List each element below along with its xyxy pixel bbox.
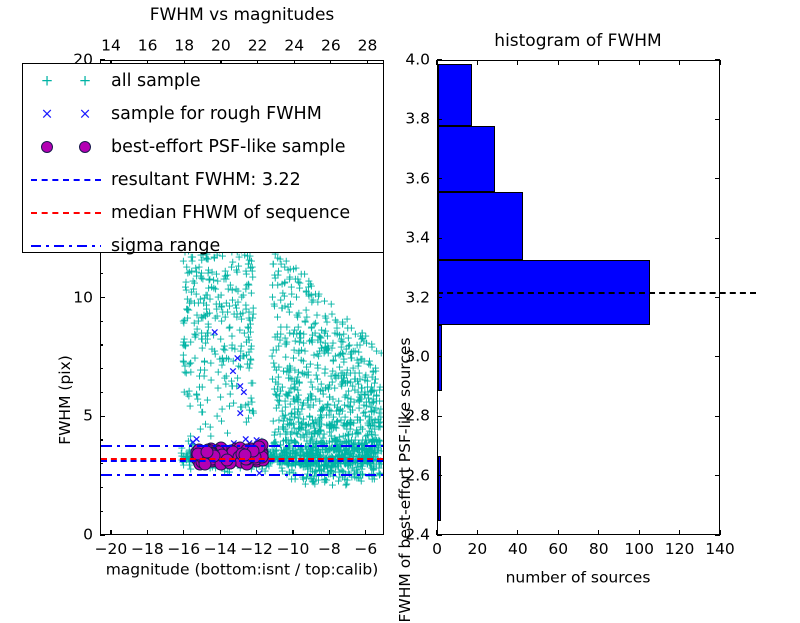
scatter-point-all-sample: + [222, 450, 231, 457]
scatter-point-all-sample: + [279, 368, 288, 375]
scatter-point-all-sample: + [349, 347, 358, 354]
scatter-point-all-sample: + [340, 449, 349, 456]
scatter-point-all-sample: + [201, 312, 210, 319]
scatter-point-all-sample: + [353, 417, 362, 424]
scatter-point-all-sample: + [278, 304, 287, 311]
hist-y-tick-right [715, 59, 720, 60]
scatter-point-all-sample: + [179, 461, 188, 468]
legend-handle [23, 163, 109, 196]
scatter-point-all-sample: + [338, 339, 347, 346]
x-ticklabel-top: 26 [321, 39, 341, 55]
scatter-point-all-sample: + [242, 271, 251, 278]
scatter-point-all-sample: + [326, 467, 335, 474]
scatter-point-all-sample: + [313, 451, 322, 458]
scatter-point-all-sample: + [352, 356, 361, 363]
scatter-point-all-sample: + [302, 306, 311, 313]
scatter-point-psf-like [214, 442, 227, 455]
scatter-point-all-sample: + [272, 391, 281, 398]
scatter-point-all-sample: + [212, 413, 221, 420]
scatter-point-all-sample: + [370, 447, 379, 454]
scatter-point-all-sample: + [179, 357, 188, 364]
scatter-point-all-sample: + [268, 282, 277, 289]
scatter-point-all-sample: + [242, 462, 251, 469]
scatter-point-all-sample: + [340, 450, 349, 457]
scatter-point-all-sample: + [314, 463, 323, 470]
scatter-point-all-sample: + [345, 404, 354, 411]
x-tick-bottom [256, 530, 257, 535]
scatter-point-all-sample: + [356, 462, 365, 469]
scatter-point-all-sample: + [334, 406, 343, 413]
scatter-point-all-sample: + [338, 321, 347, 328]
scatter-point-all-sample: + [308, 450, 317, 457]
scatter-point-all-sample: + [342, 421, 351, 428]
scatter-point-all-sample: + [368, 436, 377, 443]
scatter-point-all-sample: + [245, 450, 254, 457]
scatter-point-all-sample: + [273, 386, 282, 393]
scatter-point-all-sample: + [325, 393, 334, 400]
scatter-point-all-sample: + [247, 465, 256, 472]
scatter-point-all-sample: + [355, 416, 364, 423]
scatter-point-all-sample: + [354, 359, 363, 366]
scatter-point-all-sample: + [324, 344, 333, 351]
scatter-point-all-sample: + [299, 400, 308, 407]
scatter-point-all-sample: + [375, 397, 383, 404]
scatter-point-all-sample: + [328, 461, 337, 468]
scatter-point-all-sample: + [299, 448, 308, 455]
scatter-point-all-sample: + [357, 477, 366, 484]
scatter-point-rough-fwhm: × [243, 447, 252, 454]
scatter-point-all-sample: + [233, 268, 242, 275]
hist-y-tick-right [715, 475, 720, 476]
scatter-point-all-sample: + [371, 368, 380, 375]
scatter-point-all-sample: + [342, 421, 351, 428]
scatter-point-all-sample: + [201, 333, 210, 340]
scatter-point-all-sample: + [212, 301, 221, 308]
scatter-point-all-sample: + [179, 359, 188, 366]
scatter-point-all-sample: + [368, 387, 377, 394]
scatter-point-all-sample: + [329, 425, 338, 432]
scatter-point-all-sample: + [237, 342, 246, 349]
scatter-point-all-sample: + [315, 426, 324, 433]
scatter-point-all-sample: + [284, 266, 293, 273]
scatter-point-all-sample: + [294, 279, 303, 286]
scatter-point-all-sample: + [360, 391, 369, 398]
legend-item: ××sample for rough FWHM [23, 97, 383, 130]
scatter-point-all-sample: + [191, 331, 200, 338]
scatter-point-all-sample: + [372, 348, 381, 355]
scatter-point-all-sample: + [333, 448, 342, 455]
scatter-point-all-sample: + [337, 343, 346, 350]
scatter-point-all-sample: + [195, 384, 204, 391]
scatter-point-all-sample: + [372, 393, 381, 400]
scatter-point-all-sample: + [239, 292, 248, 299]
scatter-point-all-sample: + [305, 403, 314, 410]
scatter-point-all-sample: + [307, 430, 316, 437]
scatter-point-all-sample: + [291, 462, 300, 469]
scatter-point-all-sample: + [345, 419, 354, 426]
scatter-point-all-sample: + [283, 436, 292, 443]
x-tick-bottom [147, 530, 148, 535]
scatter-point-all-sample: + [351, 430, 360, 437]
scatter-point-all-sample: + [340, 438, 349, 445]
figure-canvas: ++++++++++++++++++++++++++++++++++++++++… [0, 0, 800, 600]
scatter-point-all-sample: + [322, 346, 331, 353]
scatter-point-all-sample: + [321, 314, 330, 321]
scatter-point-all-sample: + [358, 330, 367, 337]
scatter-point-all-sample: + [289, 420, 298, 427]
scatter-point-all-sample: + [340, 414, 349, 421]
scatter-point-all-sample: + [260, 447, 269, 454]
scatter-point-all-sample: + [289, 266, 298, 273]
scatter-point-all-sample: + [311, 291, 320, 298]
scatter-point-all-sample: + [249, 407, 258, 414]
scatter-point-all-sample: + [305, 449, 314, 456]
scatter-point-all-sample: + [236, 403, 245, 410]
scatter-point-all-sample: + [308, 339, 317, 346]
scatter-point-all-sample: + [323, 400, 332, 407]
scatter-point-all-sample: + [315, 415, 324, 422]
scatter-point-all-sample: + [355, 375, 364, 382]
scatter-point-all-sample: + [196, 449, 205, 456]
scatter-point-all-sample: + [306, 437, 315, 444]
scatter-point-all-sample: + [365, 418, 374, 425]
scatter-point-all-sample: + [196, 367, 205, 374]
scatter-point-all-sample: + [307, 463, 316, 470]
scatter-point-all-sample: + [346, 370, 355, 377]
scatter-point-all-sample: + [285, 421, 294, 428]
scatter-point-all-sample: + [299, 463, 308, 470]
scatter-point-all-sample: + [182, 370, 191, 377]
scatter-point-all-sample: + [295, 379, 304, 386]
scatter-point-all-sample: + [180, 368, 189, 375]
hist-x-tick-top [679, 60, 680, 65]
scatter-point-all-sample: + [368, 447, 377, 454]
scatter-point-all-sample: + [357, 396, 366, 403]
scatter-point-all-sample: + [370, 476, 379, 483]
scatter-point-all-sample: + [327, 432, 336, 439]
scatter-point-all-sample: + [274, 268, 283, 275]
scatter-point-all-sample: + [352, 466, 361, 473]
scatter-point-all-sample: + [268, 293, 277, 300]
scatter-point-all-sample: + [326, 422, 335, 429]
scatter-point-all-sample: + [341, 450, 350, 457]
scatter-point-all-sample: + [289, 347, 298, 354]
scatter-point-all-sample: + [200, 366, 209, 373]
scatter-point-all-sample: + [285, 416, 294, 423]
scatter-point-all-sample: + [354, 430, 363, 437]
scatter-point-all-sample: + [330, 435, 339, 442]
scatter-point-rough-fwhm: × [247, 449, 256, 456]
legend-dashed-line-icon [31, 212, 101, 214]
scatter-point-all-sample: + [209, 332, 218, 339]
scatter-point-all-sample: + [290, 378, 299, 385]
scatter-point-all-sample: + [246, 357, 255, 364]
scatter-point-all-sample: + [309, 479, 318, 486]
scatter-point-all-sample: + [356, 356, 365, 363]
scatter-point-all-sample: + [312, 450, 321, 457]
scatter-point-all-sample: + [233, 288, 242, 295]
scatter-point-all-sample: + [290, 424, 299, 431]
scatter-point-all-sample: + [367, 465, 376, 472]
hist-x-ticklabel: 20 [468, 542, 488, 558]
scatter-point-all-sample: + [280, 341, 289, 348]
scatter-point-all-sample: + [302, 287, 311, 294]
scatter-point-all-sample: + [212, 270, 221, 277]
scatter-point-all-sample: + [282, 368, 291, 375]
scatter-point-all-sample: + [358, 450, 367, 457]
resultant-fwhm-reference-line [101, 460, 383, 462]
left-plot-legend: ++all sample××sample for rough FWHMbest-… [22, 63, 384, 253]
scatter-point-all-sample: + [357, 355, 366, 362]
scatter-point-all-sample: + [287, 437, 296, 444]
scatter-point-all-sample: + [362, 339, 371, 346]
legend-item: resultant FWHM: 3.22 [23, 163, 383, 196]
histogram-bar [438, 64, 472, 126]
scatter-point-all-sample: + [346, 419, 355, 426]
scatter-point-all-sample: + [368, 421, 377, 428]
scatter-point-all-sample: + [185, 269, 194, 276]
scatter-point-all-sample: + [335, 351, 344, 358]
scatter-point-all-sample: + [306, 361, 315, 368]
scatter-point-rough-fwhm: × [225, 449, 234, 456]
scatter-point-all-sample: + [309, 477, 318, 484]
scatter-point-all-sample: + [353, 414, 362, 421]
sigma-range-reference-line [101, 445, 383, 447]
scatter-point-all-sample: + [236, 363, 245, 370]
scatter-point-all-sample: + [183, 270, 192, 277]
scatter-point-all-sample: + [215, 355, 224, 362]
scatter-point-all-sample: + [206, 376, 215, 383]
scatter-point-all-sample: + [315, 463, 324, 470]
scatter-point-all-sample: + [192, 290, 201, 297]
scatter-point-all-sample: + [312, 418, 321, 425]
scatter-point-all-sample: + [234, 448, 243, 455]
scatter-point-all-sample: + [360, 374, 369, 381]
scatter-point-all-sample: + [204, 266, 213, 273]
scatter-point-all-sample: + [236, 348, 245, 355]
scatter-point-all-sample: + [346, 354, 355, 361]
scatter-point-all-sample: + [321, 477, 330, 484]
scatter-point-all-sample: + [334, 373, 343, 380]
scatter-point-all-sample: + [205, 465, 214, 472]
hist-y-ticklabel: 3.6 [405, 171, 430, 187]
scatter-point-all-sample: + [302, 431, 311, 438]
histogram-bar [438, 456, 441, 521]
scatter-point-all-sample: + [375, 410, 383, 417]
scatter-point-all-sample: + [217, 447, 226, 454]
right-plot-title: histogram of FWHM [494, 33, 661, 50]
y-ticklabel: 5 [83, 409, 93, 425]
scatter-point-all-sample: + [184, 392, 193, 399]
x-tick-bottom [365, 530, 366, 535]
scatter-point-all-sample: + [348, 447, 357, 454]
scatter-point-all-sample: + [196, 401, 205, 408]
scatter-point-all-sample: + [280, 279, 289, 286]
scatter-point-all-sample: + [296, 330, 305, 337]
scatter-point-all-sample: + [238, 352, 247, 359]
scatter-point-all-sample: + [300, 347, 309, 354]
legend-handle [23, 229, 109, 262]
scatter-point-all-sample: + [309, 297, 318, 304]
scatter-point-all-sample: + [363, 384, 372, 391]
scatter-point-all-sample: + [361, 412, 370, 419]
hist-x-ticklabel: 140 [705, 542, 735, 558]
scatter-point-all-sample: + [327, 424, 336, 431]
scatter-point-all-sample: + [358, 462, 367, 469]
scatter-point-all-sample: + [238, 309, 247, 316]
scatter-point-all-sample: + [325, 428, 334, 435]
scatter-point-all-sample: + [304, 293, 313, 300]
scatter-point-all-sample: + [281, 403, 290, 410]
scatter-point-all-sample: + [278, 383, 287, 390]
scatter-point-all-sample: + [328, 340, 337, 347]
scatter-point-all-sample: + [312, 311, 321, 318]
scatter-point-all-sample: + [195, 373, 204, 380]
scatter-point-all-sample: + [330, 421, 339, 428]
scatter-point-all-sample: + [285, 276, 294, 283]
scatter-point-all-sample: + [292, 378, 301, 385]
scatter-point-all-sample: + [314, 290, 323, 297]
scatter-point-all-sample: + [204, 269, 213, 276]
scatter-point-all-sample: + [244, 349, 253, 356]
scatter-point-all-sample: + [264, 461, 273, 468]
scatter-point-all-sample: + [207, 448, 216, 455]
scatter-point-all-sample: + [322, 421, 331, 428]
scatter-point-all-sample: + [346, 421, 355, 428]
scatter-point-all-sample: + [236, 310, 245, 317]
scatter-point-all-sample: + [329, 414, 338, 421]
scatter-point-all-sample: + [302, 364, 311, 371]
scatter-point-all-sample: + [273, 331, 282, 338]
scatter-point-all-sample: + [211, 286, 220, 293]
scatter-point-all-sample: + [280, 447, 289, 454]
scatter-point-all-sample: + [271, 391, 280, 398]
scatter-point-all-sample: + [356, 423, 365, 430]
scatter-point-all-sample: + [345, 402, 354, 409]
legend-handle [23, 130, 109, 163]
scatter-point-all-sample: + [375, 461, 383, 468]
legend-label: resultant FWHM: 3.22 [109, 170, 301, 190]
scatter-point-all-sample: + [285, 363, 294, 370]
hist-x-tick-top [639, 60, 640, 65]
scatter-point-all-sample: + [317, 344, 326, 351]
x-tick-bottom [183, 530, 184, 535]
scatter-point-all-sample: + [361, 433, 370, 440]
scatter-point-all-sample: + [297, 346, 306, 353]
scatter-point-all-sample: + [297, 421, 306, 428]
scatter-point-all-sample: + [339, 355, 348, 362]
scatter-point-all-sample: + [306, 451, 315, 458]
scatter-point-all-sample: + [334, 478, 343, 485]
scatter-point-all-sample: + [217, 362, 226, 369]
scatter-point-all-sample: + [298, 432, 307, 439]
scatter-point-all-sample: + [302, 463, 311, 470]
scatter-point-all-sample: + [365, 414, 374, 421]
scatter-point-all-sample: + [295, 424, 304, 431]
scatter-point-all-sample: + [320, 462, 329, 469]
scatter-point-all-sample: + [229, 310, 238, 317]
scatter-point-all-sample: + [237, 315, 246, 322]
scatter-point-all-sample: + [217, 417, 226, 424]
scatter-point-all-sample: + [275, 461, 284, 468]
scatter-point-all-sample: + [313, 298, 322, 305]
scatter-point-all-sample: + [358, 447, 367, 454]
scatter-point-all-sample: + [352, 427, 361, 434]
scatter-point-all-sample: + [202, 305, 211, 312]
scatter-point-all-sample: + [199, 299, 208, 306]
scatter-point-all-sample: + [222, 354, 231, 361]
scatter-point-all-sample: + [304, 284, 313, 291]
scatter-point-all-sample: + [368, 438, 377, 445]
scatter-point-all-sample: + [203, 397, 212, 404]
scatter-point-all-sample: + [298, 369, 307, 376]
y-ticklabel: 0 [83, 527, 93, 543]
scatter-point-all-sample: + [366, 404, 375, 411]
scatter-point-all-sample: + [280, 426, 289, 433]
scatter-point-all-sample: + [331, 316, 340, 323]
y-minor-tick [100, 463, 103, 464]
scatter-point-rough-fwhm: × [192, 447, 201, 454]
scatter-point-all-sample: + [293, 399, 302, 406]
scatter-point-all-sample: + [221, 313, 230, 320]
scatter-point-rough-fwhm: × [252, 436, 261, 443]
scatter-point-all-sample: + [223, 309, 232, 316]
scatter-point-all-sample: + [305, 461, 314, 468]
scatter-point-all-sample: + [192, 446, 201, 453]
scatter-point-all-sample: + [321, 343, 330, 350]
scatter-point-all-sample: + [238, 449, 247, 456]
scatter-point-all-sample: + [274, 374, 283, 381]
legend-label: best-effort PSF-like sample [109, 137, 346, 157]
scatter-point-all-sample: + [373, 450, 382, 457]
hist-y-tick-right [715, 297, 720, 298]
scatter-point-all-sample: + [245, 365, 254, 372]
legend-item: best-effort PSF-like sample [23, 130, 383, 163]
scatter-point-all-sample: + [369, 466, 378, 473]
scatter-point-all-sample: + [269, 447, 278, 454]
scatter-point-all-sample: + [320, 350, 329, 357]
scatter-point-all-sample: + [314, 423, 323, 430]
scatter-point-all-sample: + [287, 463, 296, 470]
scatter-point-all-sample: + [193, 450, 202, 457]
scatter-point-all-sample: + [308, 435, 317, 442]
hist-y-tick [437, 119, 442, 120]
scatter-point-all-sample: + [274, 380, 283, 387]
scatter-point-all-sample: + [181, 279, 190, 286]
scatter-point-all-sample: + [332, 325, 341, 332]
scatter-point-all-sample: + [302, 430, 311, 437]
scatter-point-all-sample: + [249, 409, 258, 416]
scatter-point-all-sample: + [359, 410, 368, 417]
scatter-point-all-sample: + [342, 425, 351, 432]
scatter-point-all-sample: + [191, 450, 200, 457]
scatter-point-all-sample: + [218, 406, 227, 413]
scatter-point-all-sample: + [309, 419, 318, 426]
scatter-point-all-sample: + [339, 421, 348, 428]
y-tick [100, 59, 105, 60]
scatter-point-all-sample: + [315, 332, 324, 339]
scatter-point-all-sample: + [273, 281, 282, 288]
scatter-point-all-sample: + [323, 449, 332, 456]
scatter-point-all-sample: + [355, 447, 364, 454]
scatter-point-all-sample: + [223, 272, 232, 279]
x-ticklabel-top: 16 [138, 39, 158, 55]
scatter-point-all-sample: + [371, 364, 380, 371]
legend-item: ++all sample [23, 64, 383, 97]
scatter-point-all-sample: + [295, 446, 304, 453]
scatter-point-all-sample: + [370, 379, 379, 386]
scatter-point-all-sample: + [276, 296, 285, 303]
